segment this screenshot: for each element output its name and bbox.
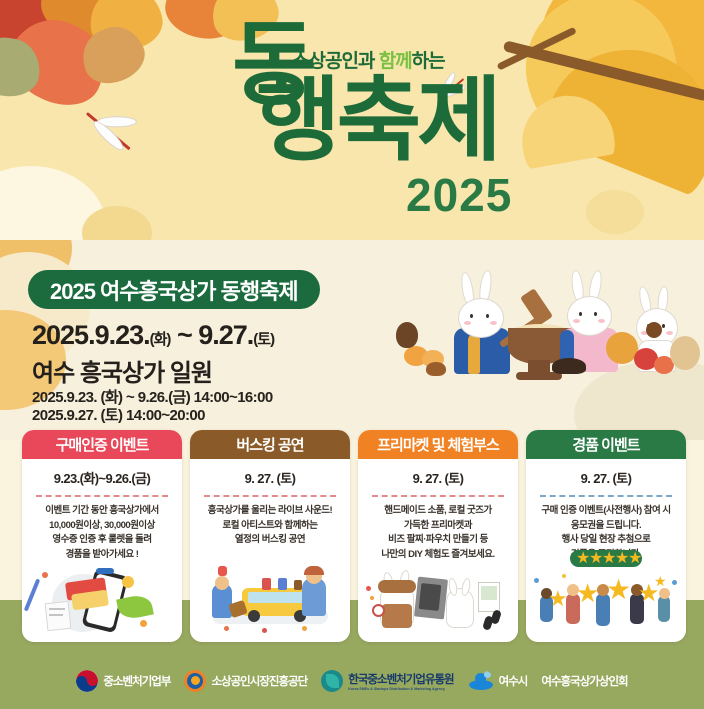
card-date: 9.23.(화)~9.26.(금) [22,468,182,487]
logo-sublabel: Korea SMEs & Startups Distribution & Mar… [348,687,453,691]
chestnut-icon [646,322,662,338]
card-title: 경품 이벤트 [526,430,686,459]
info-section: 2025 여수흥국상가 동행축제 2025.9.23.(화) ~ 9.27.(토… [0,240,704,440]
swirl-icon [184,670,206,692]
logo-subtitle: 소상공인과 함께하는 [292,46,445,73]
event-cards: 구매인증 이벤트 9.23.(화)~9.26.(금) 이벤트 기간 동안 흥국상… [0,424,704,652]
chuseok-rabbits-illustration [400,270,700,392]
card-body: 핸드메이드 소품, 로컬 굿즈가 가득한 프리마켓과 비즈 팔찌·파우치 만들기… [358,504,518,563]
divider [204,495,336,497]
card-title: 프리마켓 및 체험부스 [358,430,518,459]
page-title: 2025 여수흥국상가 동행축제 [28,270,320,309]
yeosu-wave-icon [468,670,494,692]
leaf-circle-icon [321,670,343,692]
hero-banner: 동 소상공인과 함께하는 행축제 2025 [0,0,704,248]
festival-time-saturday: 2025.9.27. (토) 14:00~20:00 [32,404,205,425]
card-illustration [22,566,182,638]
event-card-purchase[interactable]: 구매인증 이벤트 9.23.(화)~9.26.(금) 이벤트 기간 동안 흥국상… [22,430,182,642]
logo-yeosu-city: 여수시 [468,670,528,692]
logo-ministry-sme: 중소벤처기업부 [76,670,170,692]
background-blob [586,190,644,234]
logo-year: 2025 [406,168,512,222]
logo-label: 소상공인시장진흥공단 [211,673,307,689]
event-card-busking[interactable]: 버스킹 공연 9. 27. (토) 흥국상가를 울리는 라이브 사운드! 로컬 … [190,430,350,642]
card-body: 흥국상가를 울리는 라이브 사운드! 로컬 아티스트와 함께하는 열정의 버스킹… [190,504,350,548]
card-illustration [190,566,350,638]
logo-char-haengchukje: 행축제 [256,82,498,161]
logo-label: 중소벤처기업부 [103,673,170,689]
card-date: 9. 27. (토) [358,468,518,487]
card-body: 이벤트 기간 동안 흥국상가에서 10,000원이상, 30,000원이상 영수… [22,504,182,563]
logo-distribution-agency: 한국중소벤처기업유통원 Korea SMEs & Startups Distri… [321,670,453,692]
sponsor-footer: 중소벤처기업부 소상공인시장진흥공단 한국중소벤처기업유통원 Korea SME… [0,652,704,709]
logo-label: 한국중소벤처기업유통원 Korea SMEs & Startups Distri… [348,671,453,691]
divider [540,495,672,497]
event-card-fleamarket[interactable]: 프리마켓 및 체험부스 9. 27. (토) 핸드메이드 소품, 로컬 굿즈가 … [358,430,518,642]
mortar-base [516,372,562,380]
pear-icon [670,336,700,370]
logo-label: 여수시 [499,673,528,689]
chestnut-icon [426,362,446,376]
festival-logo: 동 소상공인과 함께하는 행축제 2025 [220,20,550,230]
event-card-prize[interactable]: 경품 이벤트 9. 27. (토) 구매 인증 이벤트(사전행사) 참여 시 응… [526,430,686,642]
divider [36,495,168,497]
card-title: 구매인증 이벤트 [22,430,182,459]
logo-merchants-association: 여수흥국상가상인회 [541,673,627,689]
logo-semas: 소상공인시장진흥공단 [184,670,307,692]
festival-place: 여수 흥국상가 일원 [32,353,212,388]
card-illustration: ★ ★ ★ ★ ★ ★ ★ ★ ★ ★ [526,566,686,638]
festival-date: 2025.9.23.(화) ~ 9.27.(토) [32,320,274,351]
divider [372,495,504,497]
card-title: 버스킹 공연 [190,430,350,459]
songpyeon-icon [552,358,586,374]
taegeuk-icon [76,670,98,692]
logo-label: 여수흥국상가상인회 [541,673,627,689]
festival-poster: 동 소상공인과 함께하는 행축제 2025 2025 여수흥국상가 동행축제 2… [0,0,704,709]
card-illustration [358,566,518,638]
card-date: 9. 27. (토) [526,468,686,487]
rabbit-icon [452,272,514,376]
mallet-icon [520,288,553,326]
card-date: 9. 27. (토) [190,468,350,487]
pinecone-icon [396,322,418,348]
